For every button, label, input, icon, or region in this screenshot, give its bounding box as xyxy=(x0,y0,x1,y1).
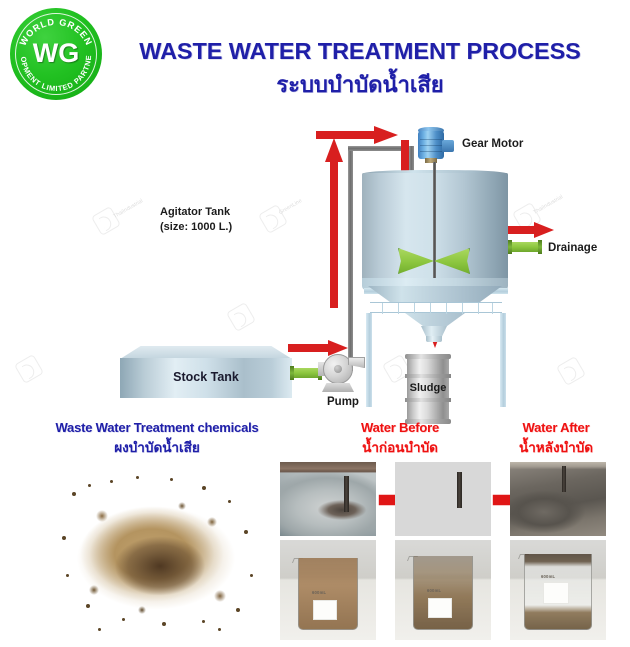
tank-photo-before xyxy=(280,462,376,536)
water-after-caption-en: Water After xyxy=(488,420,624,435)
title-block: WASTE WATER TREATMENT PROCESS ระบบบำบัดน… xyxy=(110,38,610,102)
powder-speck xyxy=(136,476,139,479)
company-logo: WORLD GREEN DEVELOPMENT LIMITED PARTNERS… xyxy=(10,8,102,100)
powder-speck xyxy=(202,486,206,490)
water-before-caption: Water Before น้ำก่อนบำบัด xyxy=(330,420,470,458)
powder-speck xyxy=(66,574,69,577)
powder-speck xyxy=(122,618,125,621)
valve-body xyxy=(512,242,538,252)
watermark-icon xyxy=(556,356,586,386)
flow-arrow-drainage xyxy=(500,222,554,238)
motor-rib xyxy=(420,151,442,152)
tank-photo-shaft xyxy=(457,472,462,508)
watermark-text: ThaiIndustrial xyxy=(112,198,144,221)
cone-spout-outlet xyxy=(426,336,442,342)
tank-photo-after xyxy=(510,462,606,536)
logo-monogram: WG xyxy=(10,38,102,68)
stock-tank-label: Stock Tank xyxy=(120,370,292,384)
grating-tick xyxy=(492,303,493,314)
drum-rib xyxy=(405,398,451,402)
powder-speck xyxy=(72,492,76,496)
beaker-glass: 600mL xyxy=(413,556,473,630)
watermark-icon xyxy=(258,204,288,234)
motor-gearbox xyxy=(442,140,454,152)
flow-arrow-riser-up xyxy=(325,138,343,308)
powder-speck xyxy=(86,604,90,608)
agitator-impeller xyxy=(398,248,470,274)
tank-photo-mid xyxy=(395,462,491,536)
riser-pipe xyxy=(348,146,353,371)
water-after-caption-th: น้ำหลังบำบัด xyxy=(488,436,624,458)
watermark-text: GreenLine xyxy=(278,198,304,217)
pump xyxy=(318,352,366,394)
agitator-tank-label-line2: (size: 1000 L.) xyxy=(160,220,232,235)
tank-photo-shaft xyxy=(562,466,566,492)
chemicals-photo xyxy=(52,470,262,630)
frame-leg-left xyxy=(366,313,372,407)
powder-speck xyxy=(162,622,166,626)
grating-tick xyxy=(430,303,431,314)
beaker-photo-mid: 600mL xyxy=(395,540,491,640)
frame-grating xyxy=(370,302,502,313)
impeller-blade-right xyxy=(434,248,470,274)
bottom-panels: Waste Water Treatment chemicals ผงบำบัดน… xyxy=(0,412,630,647)
beaker-white-label xyxy=(543,582,569,604)
gear-motor xyxy=(414,123,458,167)
powder-speck xyxy=(202,620,205,623)
grating-tick xyxy=(414,303,415,314)
impeller-blade-left xyxy=(398,248,434,274)
agitator-tank-label: Agitator Tank (size: 1000 L.) xyxy=(160,205,232,235)
gear-motor-label: Gear Motor xyxy=(462,138,523,150)
process-diagram: ThaiIndustrial GreenLine ThaiIndustrial … xyxy=(0,110,630,410)
watermark-icon xyxy=(91,206,121,236)
sludge-label: Sludge xyxy=(405,382,451,394)
beaker-volume-text: 600mL xyxy=(312,590,326,595)
beaker-glass: 600mL xyxy=(524,554,592,630)
grating-tick xyxy=(382,303,383,314)
water-after-caption: Water After น้ำหลังบำบัด xyxy=(488,420,624,458)
chemicals-caption-en: Waste Water Treatment chemicals xyxy=(14,420,300,435)
watermark-icon xyxy=(14,354,44,384)
beaker-photo-after: 600mL xyxy=(510,540,606,640)
chemicals-caption: Waste Water Treatment chemicals ผงบำบัดน… xyxy=(14,420,300,458)
water-before-caption-en: Water Before xyxy=(330,420,470,435)
powder-speck xyxy=(98,628,101,631)
pump-hub xyxy=(334,365,342,373)
page-header: WORLD GREEN DEVELOPMENT LIMITED PARTNERS… xyxy=(0,0,630,112)
water-before-caption-th: น้ำก่อนบำบัด xyxy=(330,436,470,458)
motor-rib xyxy=(420,145,442,146)
agitator-tank-label-line1: Agitator Tank xyxy=(160,205,232,220)
beaker-volume-text: 600mL xyxy=(427,588,441,593)
motor-rib xyxy=(420,139,442,140)
page-title-english: WASTE WATER TREATMENT PROCESS xyxy=(110,38,610,65)
page-title-thai: ระบบบำบัดน้ำเสีย xyxy=(110,67,610,102)
drainage-label: Drainage xyxy=(548,242,597,254)
beaker-volume-text: 600mL xyxy=(541,574,555,579)
powder-speck xyxy=(62,536,66,540)
valve-body xyxy=(294,368,318,378)
watermark-text: ThaiIndustrial xyxy=(532,194,564,217)
drainage-valve xyxy=(508,240,542,254)
beaker-white-label xyxy=(428,598,452,618)
powder-speck xyxy=(218,628,221,631)
frame-leg-right xyxy=(500,313,506,407)
valve-flange-right xyxy=(538,240,542,254)
powder-speck xyxy=(250,574,253,577)
powder-speck xyxy=(244,530,248,534)
grating-tick xyxy=(398,303,399,314)
beaker-glass: 600mL xyxy=(298,558,358,630)
pump-base xyxy=(322,383,354,392)
grating-tick xyxy=(478,303,479,314)
powder-speck xyxy=(88,484,91,487)
tank-photo-shaft xyxy=(344,476,349,512)
pump-label: Pump xyxy=(298,396,388,408)
chemicals-caption-th: ผงบำบัดน้ำเสีย xyxy=(14,436,300,458)
powder-speck xyxy=(110,480,113,483)
powder-speck xyxy=(228,500,231,503)
watermark-icon xyxy=(226,302,256,332)
beaker-white-label xyxy=(313,600,337,620)
grating-tick xyxy=(462,303,463,314)
drum-top-rim xyxy=(405,354,451,359)
drum-rib xyxy=(405,374,451,378)
stock-tank: Stock Tank xyxy=(120,346,292,398)
beaker-photo-before: 600mL xyxy=(280,540,376,640)
powder-speck xyxy=(236,608,240,612)
grating-tick xyxy=(446,303,447,314)
powder-speck xyxy=(170,478,173,481)
